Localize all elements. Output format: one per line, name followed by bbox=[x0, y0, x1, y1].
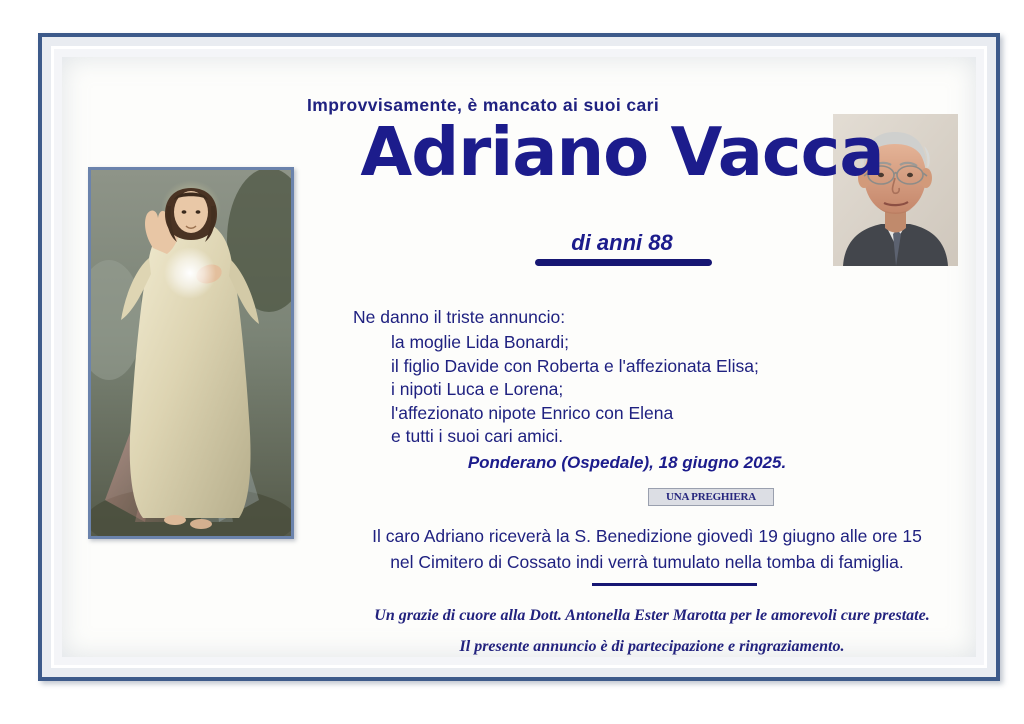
presence-note: Il presente annuncio è di partecipazione… bbox=[307, 638, 976, 656]
list-item: l'affezionato nipote Enrico con Elena bbox=[391, 402, 759, 426]
poster-frame-middle: Improvvisamente, è mancato ai suoi cari … bbox=[51, 46, 987, 668]
obituary-poster: Improvvisamente, è mancato ai suoi cari … bbox=[0, 0, 1024, 724]
age-line: di anni 88 bbox=[302, 230, 942, 256]
divider-rule-thin bbox=[592, 583, 757, 586]
prayer-badge: UNA PREGHIERA bbox=[648, 488, 774, 506]
list-item: il figlio Davide con Roberta e l'affezio… bbox=[391, 355, 759, 379]
poster-frame-outer: Improvvisamente, è mancato ai suoi cari … bbox=[38, 33, 1000, 681]
benediction-line-2: nel Cimitero di Cossato indi verrà tumul… bbox=[307, 549, 976, 575]
list-item: e tutti i suoi cari amici. bbox=[391, 425, 759, 449]
announcement-content: Improvvisamente, è mancato ai suoi cari … bbox=[307, 57, 976, 657]
divider-rule-thick bbox=[535, 259, 712, 266]
divine-mercy-jesus-image bbox=[88, 167, 294, 539]
deceased-name: Adriano Vacca bbox=[302, 119, 942, 186]
family-members-list: la moglie Lida Bonardi; il figlio Davide… bbox=[391, 331, 759, 449]
place-and-date: Ponderano (Ospedale), 18 giugno 2025. bbox=[307, 453, 947, 473]
benediction-text: Il caro Adriano riceverà la S. Benedizio… bbox=[307, 523, 976, 575]
thanks-note: Un grazie di cuore alla Dott. Antonella … bbox=[307, 607, 976, 625]
poster-frame-inner: Improvvisamente, è mancato ai suoi cari … bbox=[62, 57, 976, 657]
announcement-intro: Ne danno il triste annuncio: bbox=[353, 307, 565, 328]
list-item: la moglie Lida Bonardi; bbox=[391, 331, 759, 355]
list-item: i nipoti Luca e Lorena; bbox=[391, 378, 759, 402]
benediction-line-1: Il caro Adriano riceverà la S. Benedizio… bbox=[307, 523, 976, 549]
